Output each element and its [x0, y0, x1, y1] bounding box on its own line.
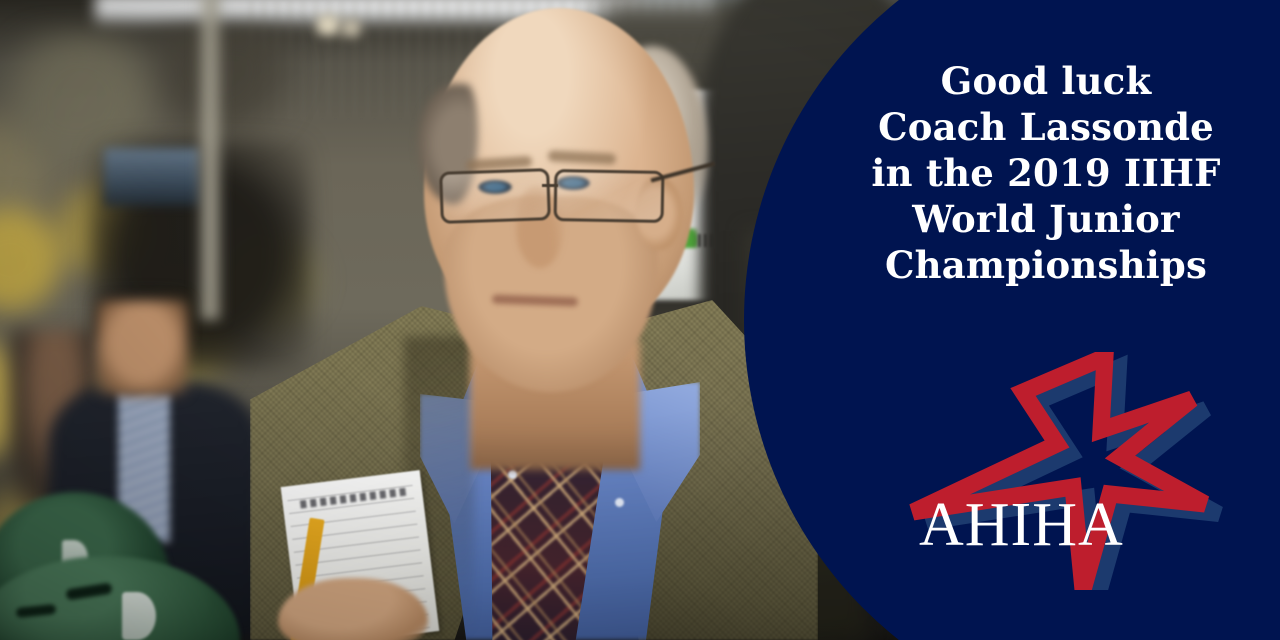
logo-wordmark: AHIHA [919, 494, 1124, 556]
eyeglass-lens-right [554, 169, 665, 223]
collar-button-right [615, 498, 624, 507]
eyeglass-bridge [542, 184, 558, 187]
collar-button-left [508, 470, 517, 479]
headline-line-2: Coach Lassonde [846, 104, 1246, 150]
eyeglass-lens-left [439, 168, 551, 224]
headline-text: Good luck Coach Lassonde in the 2019 IIH… [846, 58, 1246, 288]
headline-line-3: in the 2019 IIHF [846, 150, 1246, 196]
eyeglasses [438, 156, 688, 228]
headline-line-5: Championships [846, 242, 1246, 288]
headline-line-1: Good luck [846, 58, 1246, 104]
ahiha-logo: AHIHA [905, 352, 1240, 590]
promo-banner: Good luck Coach Lassonde in the 2019 IIH… [0, 0, 1280, 640]
headline-line-4: World Junior [846, 196, 1246, 242]
